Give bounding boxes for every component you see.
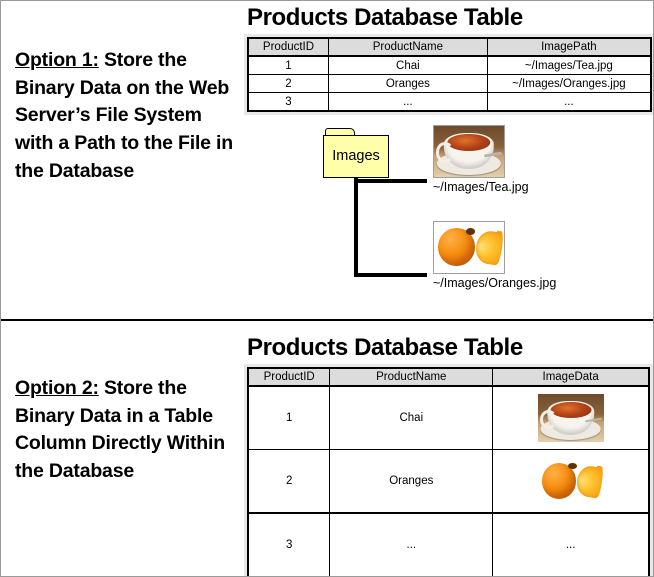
filesystem-tree: Images ~/Images/Tea.jpg xyxy=(311,125,641,305)
cell-productname: Oranges xyxy=(329,75,488,93)
cell-imagepath: ~/Images/Tea.jpg xyxy=(487,56,651,75)
tree-branch-tea xyxy=(354,179,427,183)
table-header-row: ProductID ProductName ImageData xyxy=(248,368,649,386)
cell-productname: ... xyxy=(329,93,488,112)
oranges-photo xyxy=(538,457,604,505)
table-row: 1 Chai ~/Images/Tea.jpg xyxy=(248,56,651,75)
tree-node-oranges: ~/Images/Oranges.jpg xyxy=(433,221,556,290)
cell-productid: 1 xyxy=(248,386,330,450)
products-database-table-blobs: ProductID ProductName ImageData 1 Chai xyxy=(247,367,650,577)
option2-label: Option 2: xyxy=(15,377,99,399)
option1-panel: Option 1: Store the Binary Data on the W… xyxy=(1,1,654,319)
cell-productname: Chai xyxy=(330,386,493,450)
diagram-canvas: Option 1: Store the Binary Data on the W… xyxy=(0,0,654,577)
cell-productid: 3 xyxy=(248,93,329,112)
table-row: 2 Oranges xyxy=(248,450,649,514)
column-header-productid: ProductID xyxy=(248,38,329,56)
option1-table-block: Products Database Table ProductID Produc… xyxy=(244,5,654,115)
tea-cup-image-art xyxy=(538,394,604,442)
oranges-image-art xyxy=(538,457,604,505)
option1-label: Option 1: xyxy=(15,49,99,71)
column-header-productname: ProductName xyxy=(329,38,488,56)
cell-productid: 3 xyxy=(248,513,330,577)
oranges-image-art xyxy=(434,222,504,273)
products-database-table-paths: ProductID ProductName ImagePath 1 Chai ~… xyxy=(247,37,652,112)
column-header-productid: ProductID xyxy=(248,368,330,386)
column-header-imagedata: ImageData xyxy=(493,368,649,386)
tree-branch-oranges xyxy=(354,273,427,277)
tea-cup-photo xyxy=(433,125,505,178)
cell-productname: ... xyxy=(330,513,493,577)
folder-icon: Images xyxy=(323,128,389,178)
option2-table-block: Products Database Table ProductID Produc… xyxy=(244,335,653,577)
cell-imagedata xyxy=(493,450,649,514)
tea-cup-image-art xyxy=(434,126,504,177)
folder-body: Images xyxy=(323,135,389,178)
tea-cup-photo xyxy=(538,394,604,442)
cell-imagedata: ... xyxy=(493,513,649,577)
option1-table-title: Products Database Table xyxy=(247,5,654,31)
column-header-imagepath: ImagePath xyxy=(487,38,651,56)
table-row: 1 Chai xyxy=(248,386,649,450)
option1-table-frame: ProductID ProductName ImagePath 1 Chai ~… xyxy=(244,34,654,115)
tree-node-path-oranges: ~/Images/Oranges.jpg xyxy=(433,276,556,290)
table-row: 2 Oranges ~/Images/Oranges.jpg xyxy=(248,75,651,93)
option2-description: Option 2: Store the Binary Data in a Tab… xyxy=(15,375,237,486)
table-row: 3 ... ... xyxy=(248,93,651,112)
oranges-photo xyxy=(433,221,505,274)
folder-label: Images xyxy=(332,149,380,164)
cell-productid: 1 xyxy=(248,56,329,75)
cell-productname: Oranges xyxy=(330,450,493,514)
tree-trunk-line xyxy=(354,177,358,277)
option1-description: Option 1: Store the Binary Data on the W… xyxy=(15,47,237,185)
cell-imagepath: ~/Images/Oranges.jpg xyxy=(487,75,651,93)
column-header-productname: ProductName xyxy=(330,368,493,386)
table-row: 3 ... ... xyxy=(248,513,649,577)
option2-table-frame: ProductID ProductName ImageData 1 Chai xyxy=(244,364,653,577)
table-header-row: ProductID ProductName ImagePath xyxy=(248,38,651,56)
cell-productid: 2 xyxy=(248,75,329,93)
cell-imagedata xyxy=(493,386,649,450)
tree-node-tea: ~/Images/Tea.jpg xyxy=(433,125,529,194)
tree-node-path-tea: ~/Images/Tea.jpg xyxy=(433,180,529,194)
cell-productname: Chai xyxy=(329,56,488,75)
cell-imagepath: ... xyxy=(487,93,651,112)
option2-table-title: Products Database Table xyxy=(247,335,653,361)
cell-productid: 2 xyxy=(248,450,330,514)
